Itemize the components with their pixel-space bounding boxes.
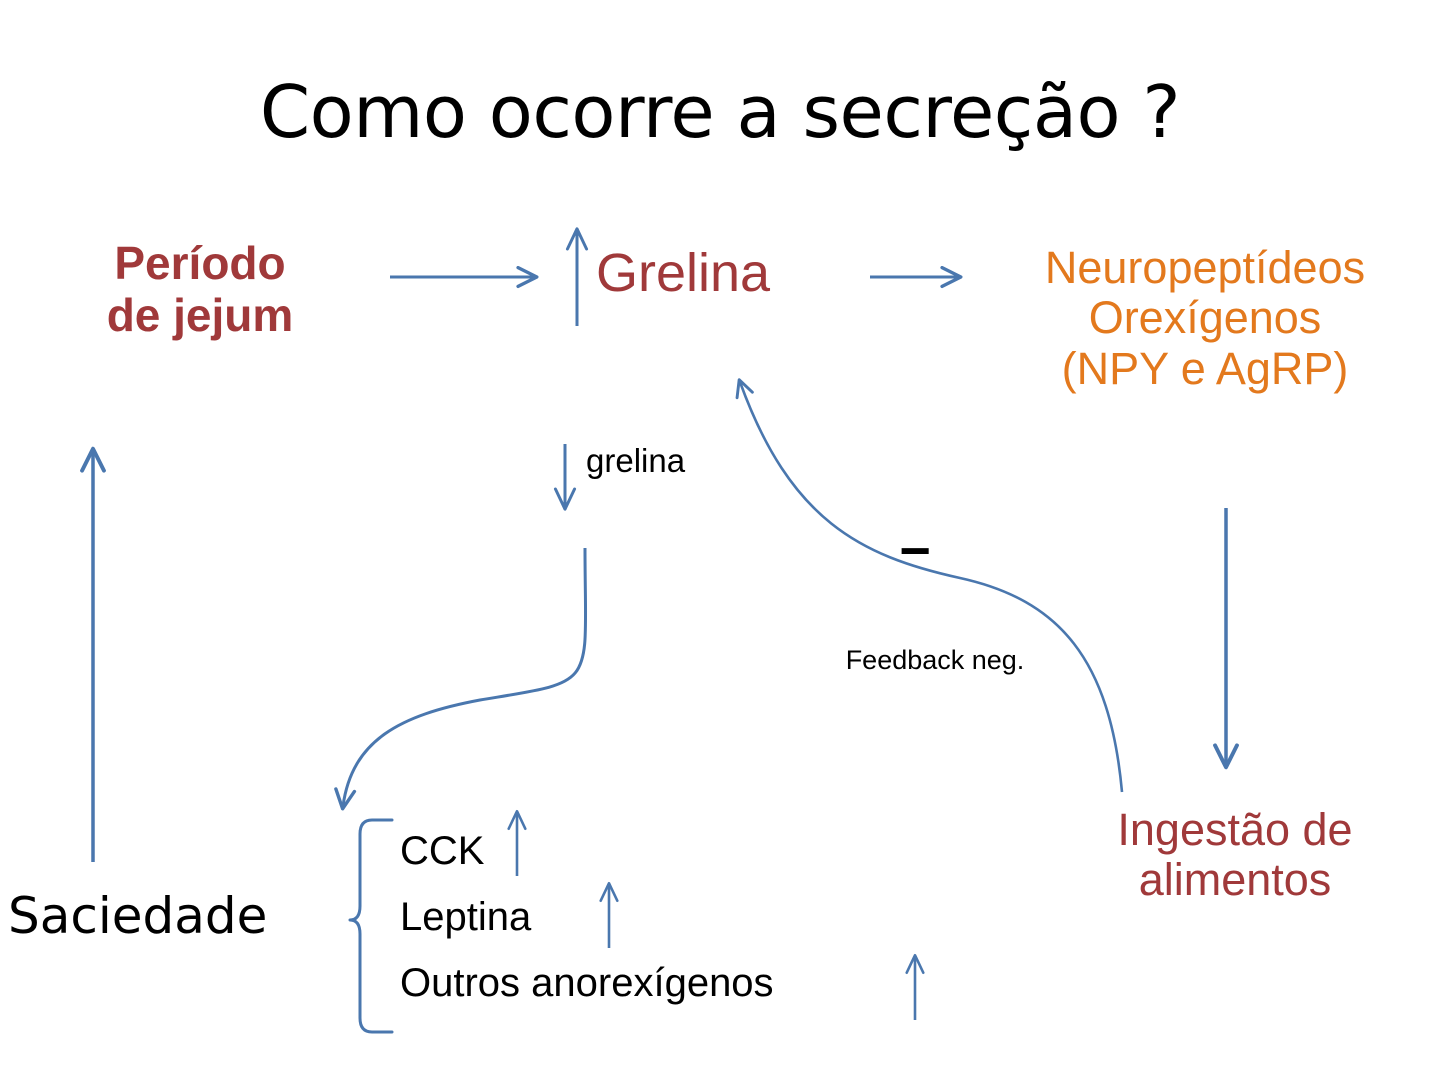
list-item: CCK (400, 818, 960, 884)
node-grelina-decrease: grelina (586, 443, 786, 480)
node-ingestao-de-alimentos: Ingestão de alimentos (1040, 805, 1430, 906)
mediator-list: CCK Leptina Outros anorexígenos (400, 818, 960, 1016)
slide-title: Como ocorre a secreção ? (0, 72, 1440, 153)
list-item: Leptina (400, 884, 960, 950)
node-saciedade: Saciedade (8, 888, 328, 944)
curly-brace-mediators (350, 820, 392, 1032)
node-periodo-de-jejum: Período de jejum (40, 238, 360, 341)
label-feedback-negativo: Feedback neg. (800, 645, 1070, 675)
node-neuropeptideos-orexigenos: Neuropeptídeos Orexígenos (NPY e AgRP) (980, 243, 1430, 394)
list-item: Outros anorexígenos (400, 950, 960, 1016)
minus-sign-icon: − (880, 524, 950, 578)
arrow-grelina-to-mediators (343, 548, 586, 806)
arrow-feedback-negative (740, 382, 1122, 792)
slide-canvas: Como ocorre a secreção ? Período de jeju… (0, 0, 1440, 1080)
node-grelina-increase: Grelina (596, 243, 856, 303)
